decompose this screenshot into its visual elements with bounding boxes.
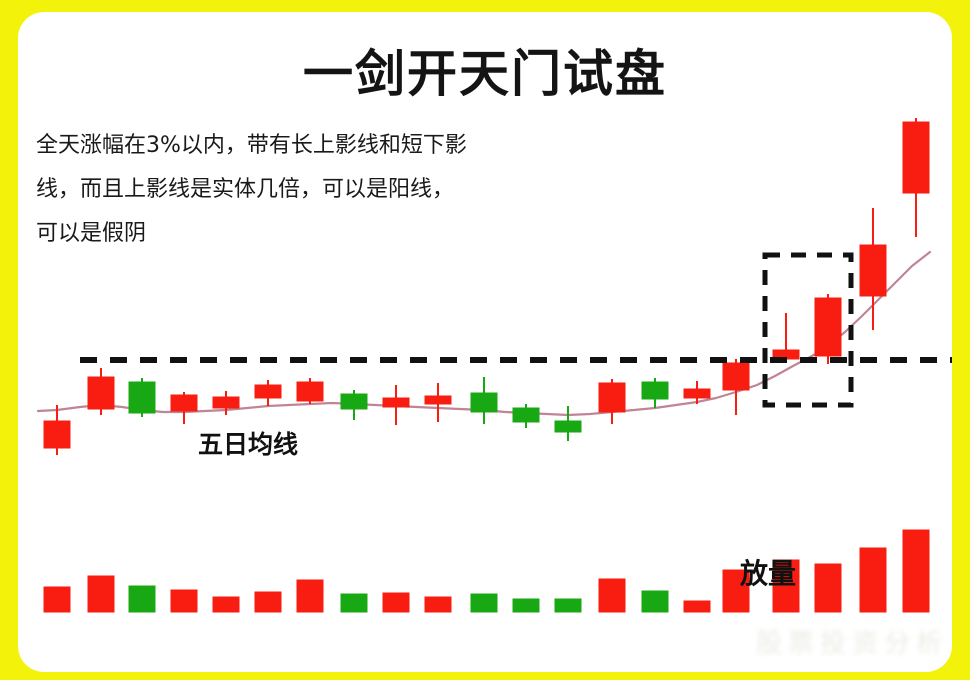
candle-body [471,393,497,412]
candle-body [341,394,367,409]
volume-bar-10 [425,597,451,612]
candle-1 [44,405,70,455]
candle-7 [297,378,323,404]
volume-bar-2 [88,576,114,612]
candle-body [425,396,451,404]
candle-body [297,382,323,401]
volume-bar-8 [341,594,367,612]
volume-bar-3 [129,586,155,612]
volume-bar-19 [815,564,841,612]
candle-body [171,395,197,411]
candle-body [44,421,70,448]
watermark: 股票投资分析 [756,623,948,660]
candle-body [815,298,841,356]
candle-15 [642,378,668,408]
candle-body [88,377,114,409]
content-card: 一剑开天门试盘 全天涨幅在3%以内，带有长上影线和短下影 线，而且上影线是实体几… [18,12,952,672]
volume-bar-16 [684,601,710,612]
candle-2 [88,368,114,415]
candle-body [383,398,409,407]
volume-bar-15 [642,591,668,612]
ma-line-label: 五日均线 [198,425,298,461]
volume-bar-5 [213,597,239,612]
candle-9 [383,385,409,425]
candle-13 [555,406,581,441]
volume-bar-9 [383,593,409,612]
volume-bar-21 [903,530,929,612]
candle-body [684,389,710,398]
candle-body [555,421,581,432]
candle-body [513,408,539,422]
candle-body [903,122,929,193]
chart-svg [18,12,952,672]
candle-19 [815,294,841,364]
candle-18 [773,313,799,362]
candle-12 [513,404,539,428]
screenshot-root: 一剑开天门试盘 全天涨幅在3%以内，带有长上影线和短下影 线，而且上影线是实体几… [0,0,970,680]
candle-body [255,385,281,398]
candle-8 [341,390,367,420]
volume-bar-13 [555,599,581,612]
candle-17 [723,359,749,415]
candle-21 [903,118,929,237]
volume-bar-4 [171,590,197,612]
volume-bar-14 [599,579,625,612]
candle-body [599,383,625,412]
candlestick-chart [18,12,952,672]
candle-4 [171,392,197,424]
candle-6 [255,380,281,406]
candle-body [860,245,886,296]
volume-bar-7 [297,580,323,612]
candle-body [129,382,155,413]
candle-20 [860,208,886,330]
volume-bar-11 [471,594,497,612]
candle-3 [129,378,155,417]
candle-body [642,382,668,399]
volume-bar-6 [255,592,281,612]
volume-bar-1 [44,587,70,612]
candle-body [213,397,239,408]
volume-bar-20 [860,548,886,612]
volume-bar-12 [513,599,539,612]
candle-10 [425,383,451,422]
candle-14 [599,379,625,424]
volume-label: 放量 [740,552,796,592]
candle-11 [471,377,497,424]
candle-body [723,363,749,390]
